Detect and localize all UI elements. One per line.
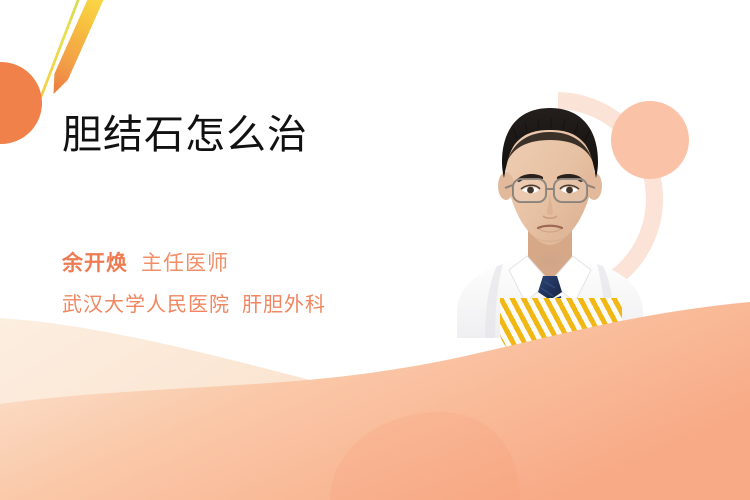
doctor-hospital: 武汉大学人民医院 — [62, 294, 230, 316]
video-thumbnail-card: 胆结石怎么治 余开焕主任医师 武汉大学人民医院肝胆外科 — [0, 0, 750, 500]
doctor-affiliation-line: 武汉大学人民医院肝胆外科 — [62, 288, 326, 317]
page-title: 胆结石怎么治 — [62, 112, 482, 159]
doctor-name: 余开焕 — [62, 252, 128, 275]
headline-block: 胆结石怎么治 — [62, 112, 482, 159]
bottom-wave-decoration — [0, 300, 750, 500]
doctor-department: 肝胆外科 — [242, 294, 326, 316]
doctor-title: 主任医师 — [141, 252, 229, 275]
doctor-credential-line: 余开焕主任医师 — [62, 247, 229, 277]
diagonal-stripe-thick-icon — [47, 0, 110, 97]
orange-circle-decoration — [0, 62, 42, 144]
